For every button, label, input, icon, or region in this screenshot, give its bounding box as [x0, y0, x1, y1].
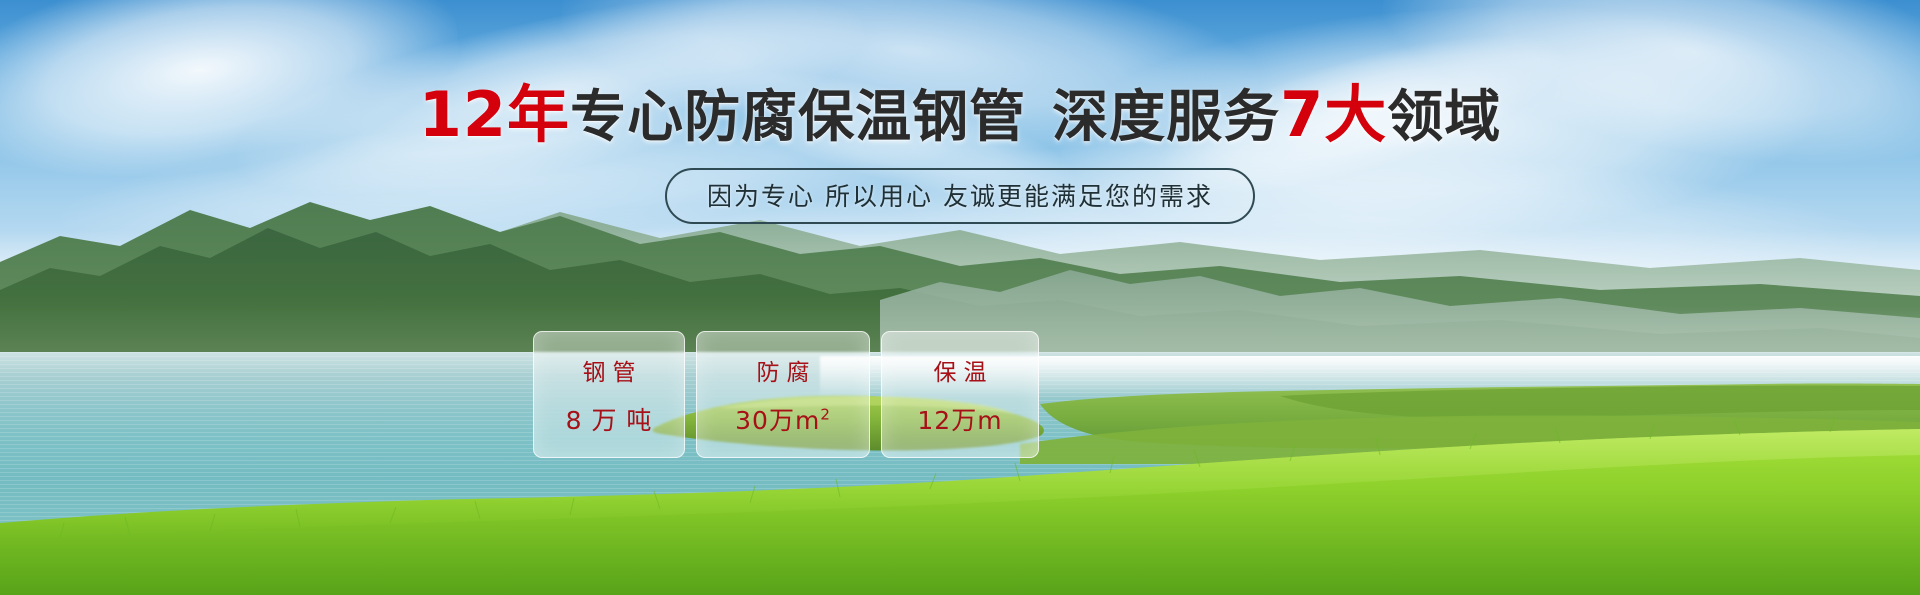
headline-main: 专心防腐保温钢管 [570, 85, 1026, 150]
stat-card-value: 8 万 吨 [566, 401, 653, 437]
stat-card-value-number: 30万m [735, 406, 820, 435]
page-title: 12年专心防腐保温钢管深度服务7大领域 [0, 84, 1920, 146]
headline-seven: 7大 [1280, 78, 1387, 151]
hero-banner: 12年专心防腐保温钢管深度服务7大领域 因为专心 所以用心 友诚更能满足您的需求… [0, 0, 1920, 595]
headline-service: 深度服务 [1052, 85, 1280, 150]
stat-card-value: 30万m2 [735, 401, 831, 437]
stat-card-value-sup: 2 [820, 405, 831, 423]
stat-card-group: 钢管 8 万 吨 防腐 30万m2 保温 12万m [533, 331, 1039, 458]
stat-card-title: 防腐 [750, 353, 817, 387]
headline-years: 12年 [419, 78, 570, 151]
subtitle-pill: 因为专心 所以用心 友诚更能满足您的需求 [665, 168, 1255, 224]
stat-card-title: 保温 [927, 353, 994, 387]
subtitle-container: 因为专心 所以用心 友诚更能满足您的需求 [0, 168, 1920, 224]
stat-card-insulation[interactable]: 保温 12万m [881, 331, 1039, 458]
headline-fields: 领域 [1387, 85, 1501, 150]
stat-card-steel-pipe[interactable]: 钢管 8 万 吨 [533, 331, 685, 458]
stat-card-anticorrosion[interactable]: 防腐 30万m2 [696, 331, 870, 458]
stat-card-value: 12万m [917, 401, 1002, 437]
stat-card-title: 钢管 [576, 353, 643, 387]
